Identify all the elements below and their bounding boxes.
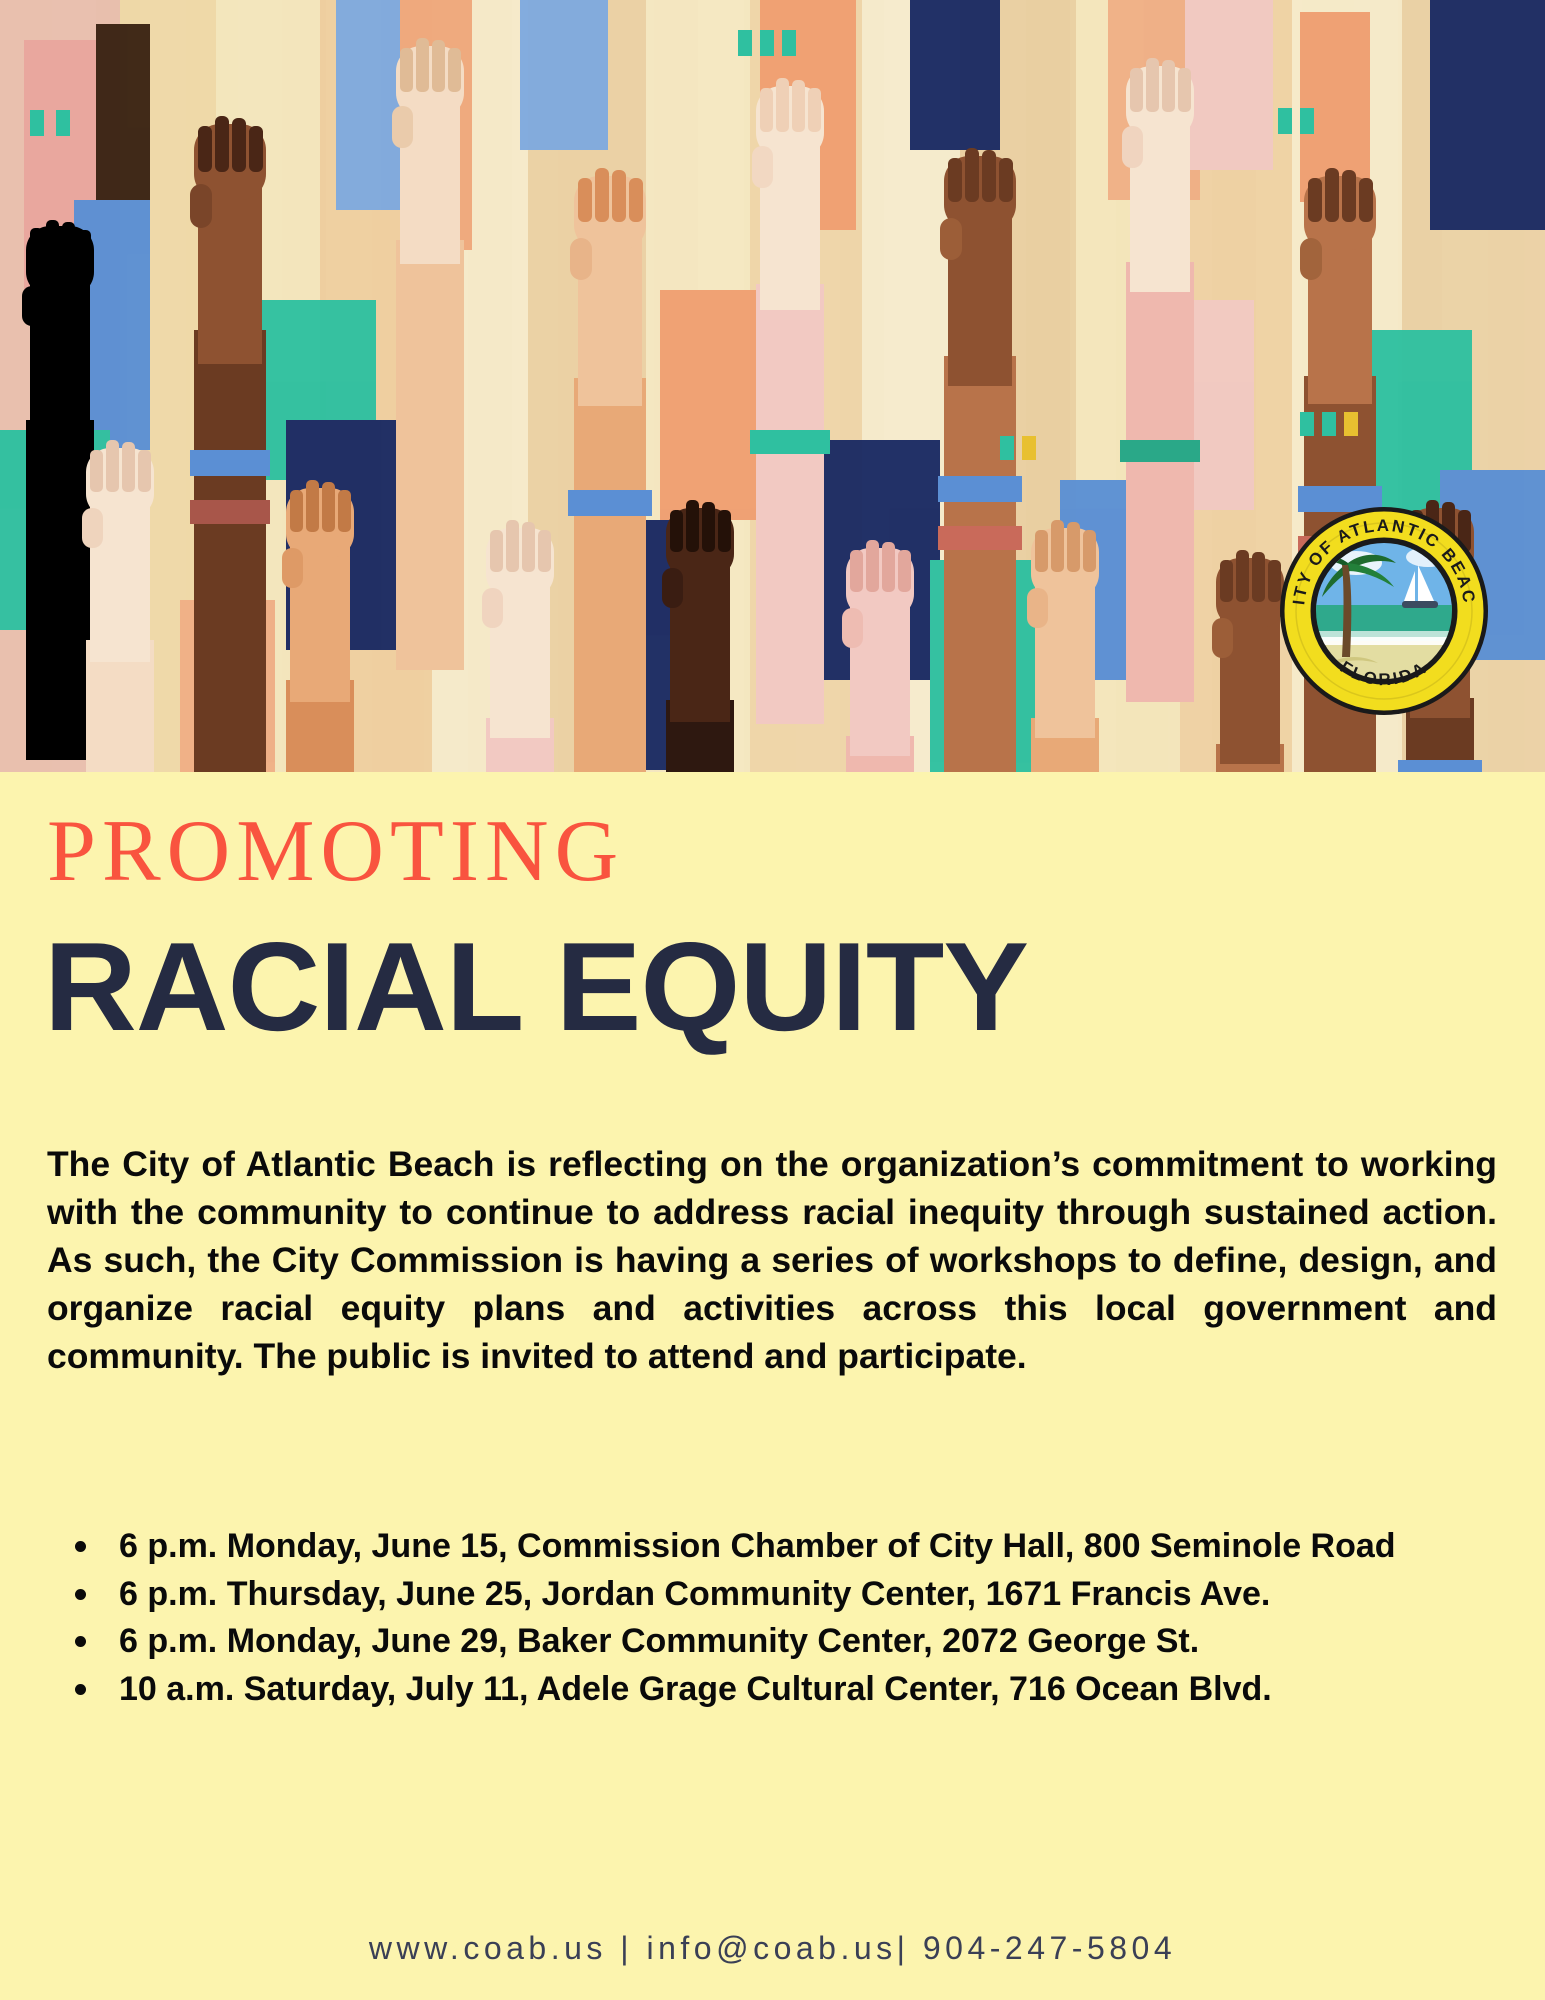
- city-of-atlantic-beach-seal-icon: CITY OF ATLANTIC BEACH FLORIDA: [1278, 505, 1490, 717]
- list-item: 6 p.m. Monday, June 15, Commission Chamb…: [47, 1524, 1487, 1570]
- page-title: RACIAL EQUITY: [44, 924, 1028, 1050]
- list-item: 6 p.m. Thursday, June 25, Jordan Communi…: [47, 1572, 1487, 1618]
- footer-contact-line: www.coab.us | info@coab.us| 904-247-5804: [0, 1930, 1545, 1967]
- poster-root: CITY OF ATLANTIC BEACH FLORIDA PROMOTING…: [0, 0, 1545, 2000]
- body-paragraph: The City of Atlantic Beach is reflecting…: [47, 1140, 1497, 1380]
- list-item: 10 a.m. Saturday, July 11, Adele Grage C…: [47, 1667, 1487, 1713]
- event-list: 6 p.m. Monday, June 15, Commission Chamb…: [47, 1524, 1487, 1714]
- list-item: 6 p.m. Monday, June 29, Baker Community …: [47, 1619, 1487, 1665]
- city-seal: CITY OF ATLANTIC BEACH FLORIDA: [1278, 505, 1490, 717]
- eyebrow-promoting: PROMOTING: [47, 808, 624, 896]
- hero-illustration-raised-fists: CITY OF ATLANTIC BEACH FLORIDA: [0, 0, 1545, 772]
- hero-arm-row-1: [22, 220, 94, 760]
